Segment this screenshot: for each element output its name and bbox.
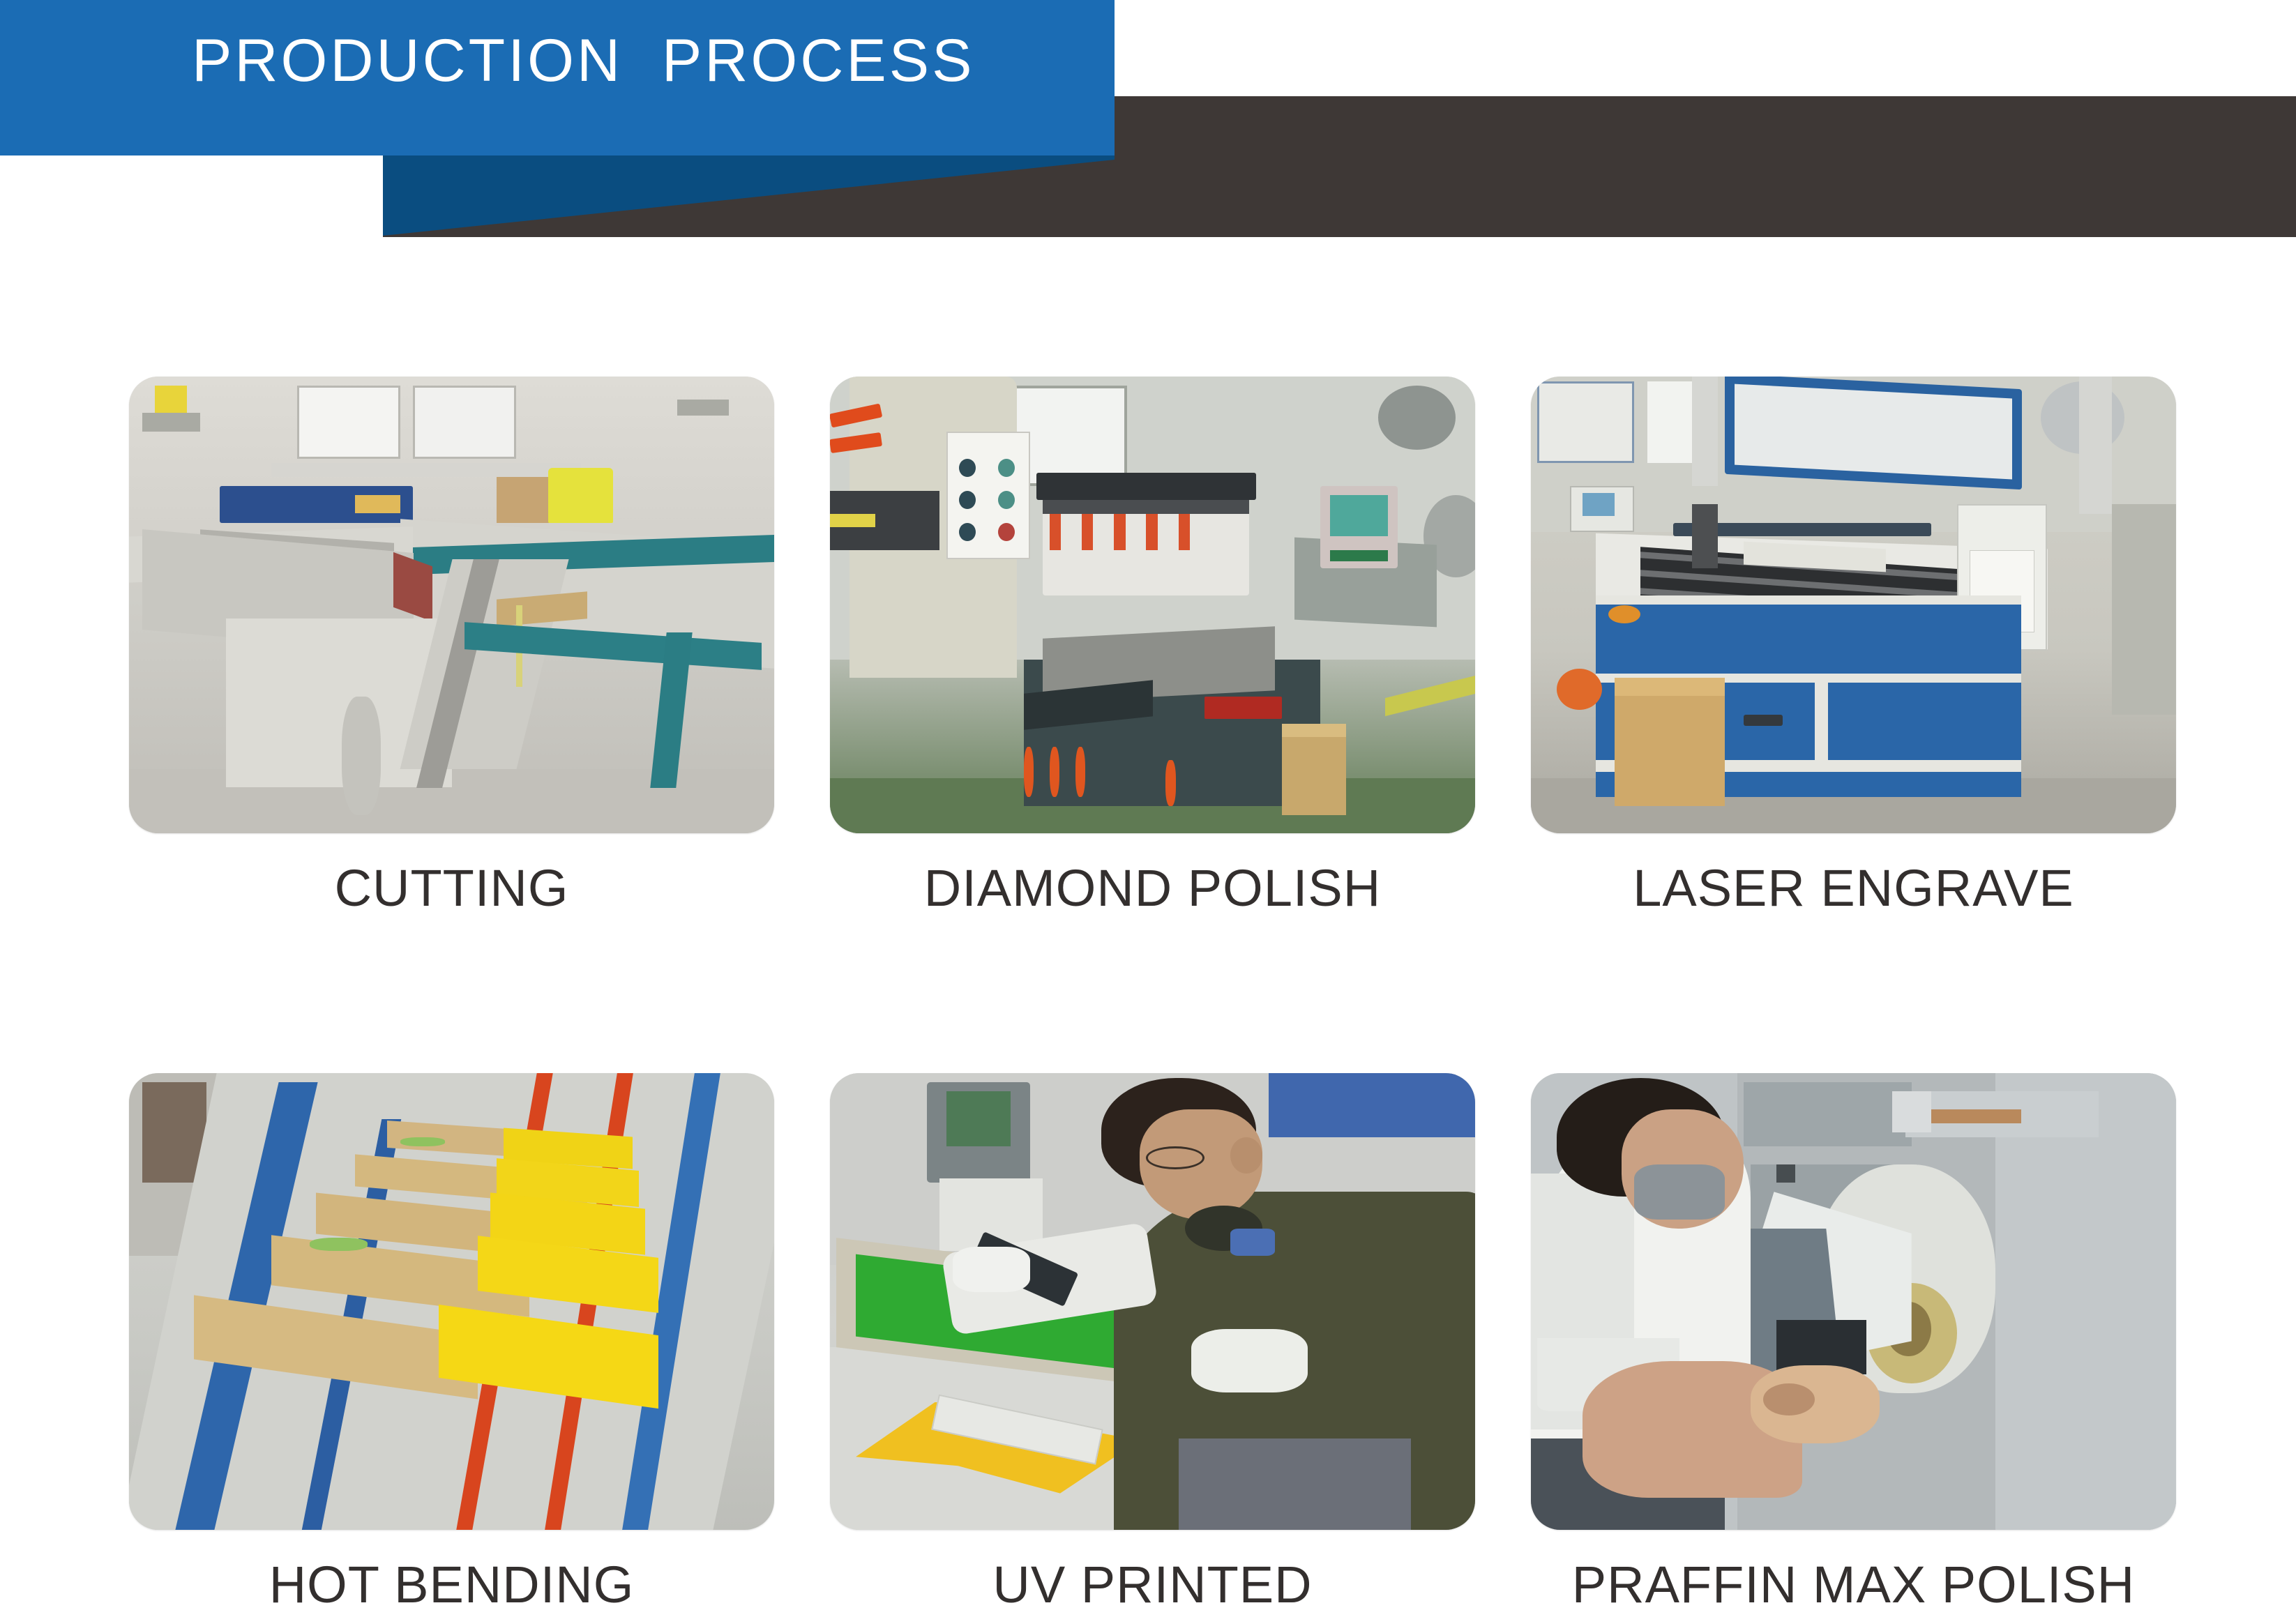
diamond-polish-photo <box>830 377 1475 833</box>
process-caption: CUTTING <box>335 863 569 914</box>
process-caption: LASER ENGRAVE <box>1633 863 2074 914</box>
process-item-laser-engrave[interactable]: LASER ENGRAVE <box>1531 377 2176 914</box>
praffin-max-polish-photo <box>1531 1073 2176 1530</box>
laser-engrave-photo <box>1531 377 2176 833</box>
page-header: PRODUCTION PROCESS <box>0 0 2296 251</box>
process-row-1: CUTTING <box>129 377 2187 914</box>
cutting-photo <box>129 377 774 833</box>
process-item-diamond-polish[interactable]: DIAMOND POLISH <box>830 377 1475 914</box>
process-item-praffin-max-polish[interactable]: PRAFFIN MAX POLISH <box>1531 1073 2176 1611</box>
process-caption: PRAFFIN MAX POLISH <box>1572 1559 2135 1611</box>
process-item-hot-bending[interactable]: HOT BENDING <box>129 1073 774 1611</box>
page-title: PRODUCTION PROCESS <box>192 31 974 91</box>
process-caption: UV PRINTED <box>992 1559 1312 1611</box>
process-item-uv-printed[interactable]: UV PRINTED <box>830 1073 1475 1611</box>
process-row-2: HOT BENDING UV PRINTED <box>129 1073 2187 1611</box>
hot-bending-photo <box>129 1073 774 1530</box>
process-item-cutting[interactable]: CUTTING <box>129 377 774 914</box>
process-grid: CUTTING <box>129 377 2187 1611</box>
process-caption: DIAMOND POLISH <box>924 863 1381 914</box>
process-caption: HOT BENDING <box>269 1559 635 1611</box>
uv-printed-photo <box>830 1073 1475 1530</box>
